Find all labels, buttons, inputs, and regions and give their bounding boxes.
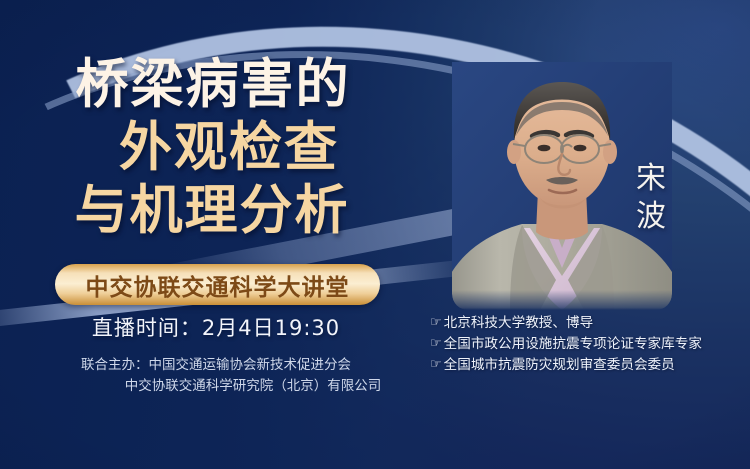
speaker-name-char-2: 波 [636,198,668,236]
title-line-3: 与机理分析 [0,184,432,237]
organizer-line-2: 中交协联交通科学研究院（北京）有限公司 [0,376,432,397]
credential-text: 北京科技大学教授、博导 [444,314,594,333]
series-badge-label: 中交协联交通科学大讲堂 [86,268,350,302]
organizers: 联合主办：中国交通运输协会新技术促进分会 中交协联交通科学研究院（北京）有限公司 [0,355,432,397]
pointing-hand-icon: ☞ [430,314,442,333]
organizer-line-1: 联合主办：中国交通运输协会新技术促进分会 [0,355,432,376]
speaker-name-char-1: 宋 [636,160,668,198]
speaker-name: 宋 波 [636,160,668,236]
title-line-2: 外观检查 [26,121,432,174]
credential-text: 全国城市抗震防灾规划审查委员会委员 [444,356,675,375]
live-time: 直播时间：2月4日19:30 [0,312,432,342]
poster-title: 桥梁病害的 外观检查 与机理分析 [0,58,432,237]
credential-item: ☞ 全国市政公用设施抗震专项论证专家库专家 [430,335,746,354]
title-line-1: 桥梁病害的 [0,58,432,111]
webinar-poster: 桥梁病害的 外观检查 与机理分析 中交协联交通科学大讲堂 直播时间：2月4日19… [0,0,750,469]
credential-text: 全国市政公用设施抗震专项论证专家库专家 [444,335,702,354]
credential-item: ☞ 全国城市抗震防灾规划审查委员会委员 [430,356,746,375]
credential-item: ☞ 北京科技大学教授、博导 [430,314,746,333]
pointing-hand-icon: ☞ [430,356,442,375]
speaker-credentials: ☞ 北京科技大学教授、博导 ☞ 全国市政公用设施抗震专项论证专家库专家 ☞ 全国… [430,314,746,376]
series-badge: 中交协联交通科学大讲堂 [55,264,380,305]
pointing-hand-icon: ☞ [430,335,442,354]
